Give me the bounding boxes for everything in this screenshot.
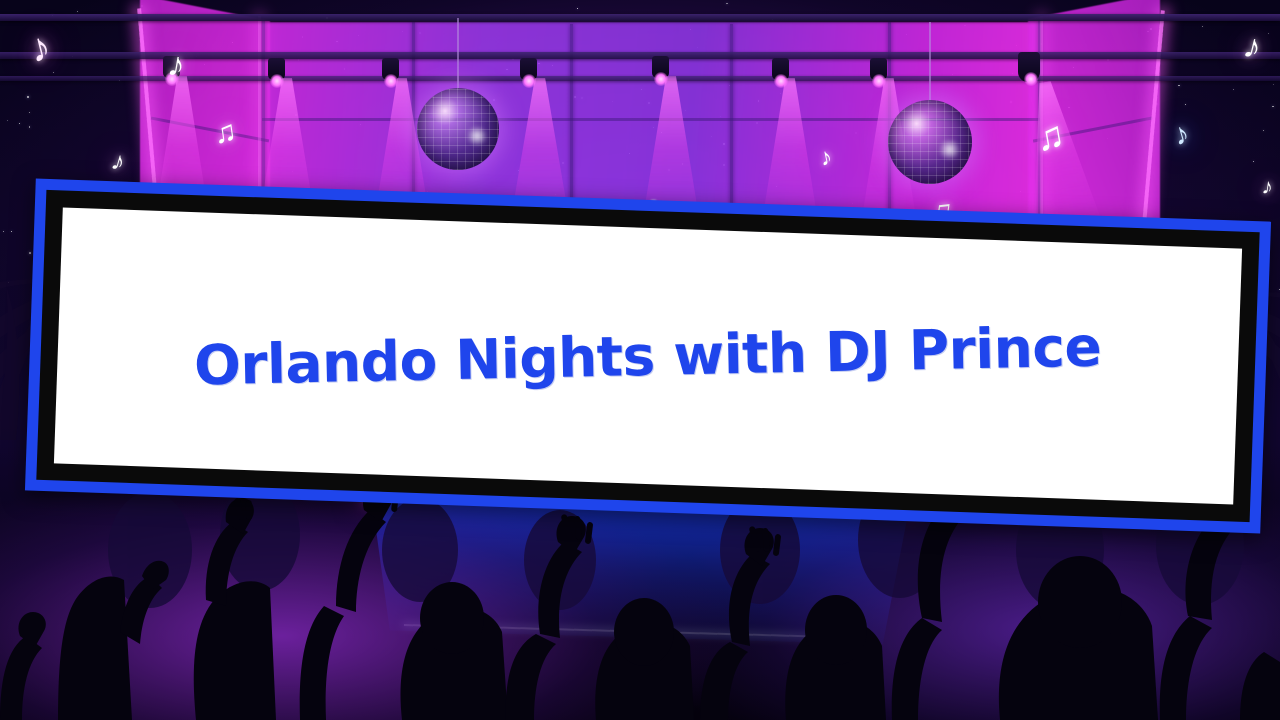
banner-content-area: Orlando Nights with DJ Prince — [54, 207, 1242, 504]
title-banner: Orlando Nights with DJ Prince — [25, 179, 1271, 534]
star — [29, 252, 31, 254]
star — [29, 112, 30, 113]
star — [3, 231, 4, 232]
star — [77, 11, 78, 12]
poster-canvas: ♪♪♫♪♪♪♪♫♫♪♪♪ Orlando Nights with DJ Prin… — [0, 0, 1280, 720]
star — [11, 231, 12, 232]
star — [1268, 33, 1269, 34]
star — [1273, 84, 1274, 85]
star — [1263, 130, 1264, 131]
star — [1233, 89, 1234, 90]
banner-outer-border: Orlando Nights with DJ Prince — [25, 179, 1271, 534]
star — [1178, 85, 1179, 86]
banner-inner-border: Orlando Nights with DJ Prince — [36, 190, 1259, 522]
star — [1253, 161, 1254, 162]
star — [8, 282, 9, 283]
star — [19, 123, 20, 124]
star — [53, 72, 55, 74]
disco-ball-wire — [457, 18, 459, 90]
star — [7, 120, 8, 121]
star — [27, 96, 28, 97]
star — [1272, 106, 1274, 108]
star — [726, 3, 727, 4]
star — [577, 8, 578, 9]
star — [1185, 104, 1186, 105]
disco-ball-wire — [929, 22, 931, 102]
star — [29, 126, 31, 128]
page-title: Orlando Nights with DJ Prince — [194, 315, 1102, 398]
star — [1202, 26, 1203, 27]
